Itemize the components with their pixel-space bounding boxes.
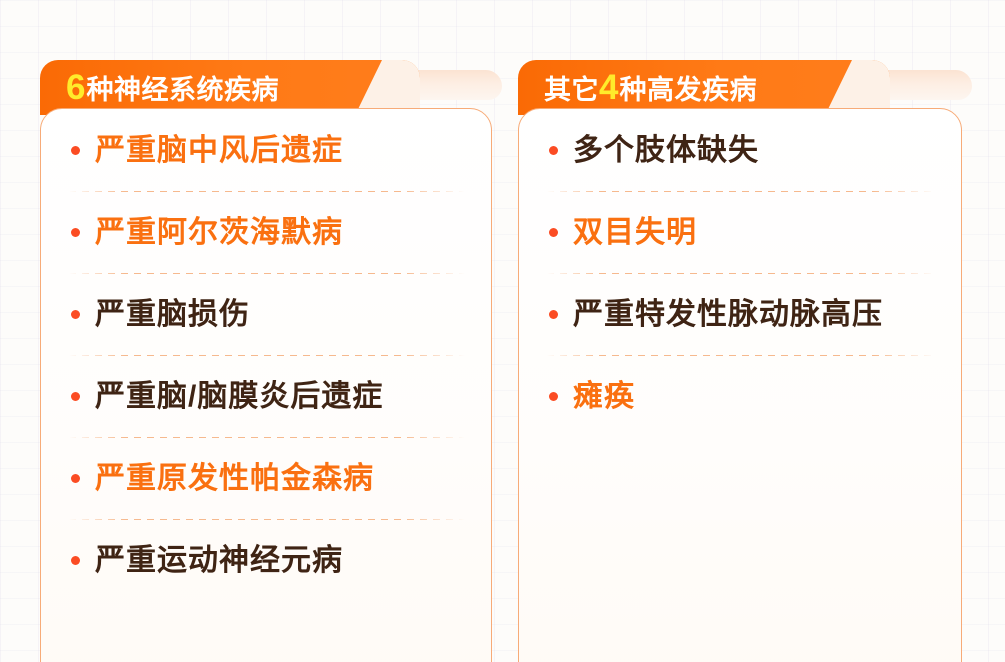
page-background: 6 种神经系统疾病 严重脑中风后遗症 严重阿尔茨海默病 严重脑损伤 — [0, 0, 1005, 662]
list-item-label: 严重运动神经元病 — [95, 544, 343, 577]
list-item[interactable]: 瘫痪 — [519, 355, 961, 437]
card-body: 严重脑中风后遗症 严重阿尔茨海默病 严重脑损伤 严重脑/脑膜炎后遗症 严重原发性… — [40, 108, 492, 662]
card-header-tab: 其它 4 种高发疾病 — [518, 60, 890, 115]
bullet-icon — [71, 228, 80, 237]
list-item-label: 严重脑损伤 — [95, 298, 250, 331]
card-header-label: 种神经系统疾病 — [86, 77, 279, 104]
list-item-label: 瘫痪 — [573, 380, 635, 413]
list-item[interactable]: 双目失明 — [519, 191, 961, 273]
card-header-label: 种高发疾病 — [619, 77, 757, 104]
list-item-label: 严重特发性脉动脉高压 — [573, 298, 883, 331]
list-item-label: 严重脑中风后遗症 — [95, 134, 343, 167]
list-item-label: 严重脑/脑膜炎后遗症 — [95, 380, 383, 413]
bullet-icon — [71, 146, 80, 155]
bullet-icon — [549, 146, 558, 155]
list-item[interactable]: 严重脑损伤 — [41, 273, 491, 355]
list-item-label: 多个肢体缺失 — [573, 134, 759, 167]
card-header-tab: 6 种神经系统疾病 — [40, 60, 420, 115]
list-item[interactable]: 严重脑/脑膜炎后遗症 — [41, 355, 491, 437]
card-header-text: 其它 4 种高发疾病 — [518, 70, 757, 105]
bullet-icon — [549, 392, 558, 401]
card-header-count: 4 — [599, 70, 618, 105]
card-header-text: 6 种神经系统疾病 — [40, 70, 279, 105]
disease-list: 多个肢体缺失 双目失明 严重特发性脉动脉高压 瘫痪 — [519, 109, 961, 437]
bullet-icon — [71, 474, 80, 483]
card-body: 多个肢体缺失 双目失明 严重特发性脉动脉高压 瘫痪 — [518, 108, 962, 662]
disease-list: 严重脑中风后遗症 严重阿尔茨海默病 严重脑损伤 严重脑/脑膜炎后遗症 严重原发性… — [41, 109, 491, 601]
list-item[interactable]: 严重运动神经元病 — [41, 519, 491, 601]
list-item[interactable]: 严重脑中风后遗症 — [41, 109, 491, 191]
bullet-icon — [549, 310, 558, 319]
bullet-icon — [549, 228, 558, 237]
list-item[interactable]: 多个肢体缺失 — [519, 109, 961, 191]
list-item-label: 严重阿尔茨海默病 — [95, 216, 343, 249]
list-item[interactable]: 严重阿尔茨海默病 — [41, 191, 491, 273]
bullet-icon — [71, 556, 80, 565]
list-item-label: 双目失明 — [573, 216, 697, 249]
list-item[interactable]: 严重特发性脉动脉高压 — [519, 273, 961, 355]
card-header-prefix: 其它 — [544, 77, 599, 104]
card-header-count: 6 — [66, 70, 85, 105]
bullet-icon — [71, 392, 80, 401]
list-item[interactable]: 严重原发性帕金森病 — [41, 437, 491, 519]
bullet-icon — [71, 310, 80, 319]
list-item-label: 严重原发性帕金森病 — [95, 462, 374, 495]
